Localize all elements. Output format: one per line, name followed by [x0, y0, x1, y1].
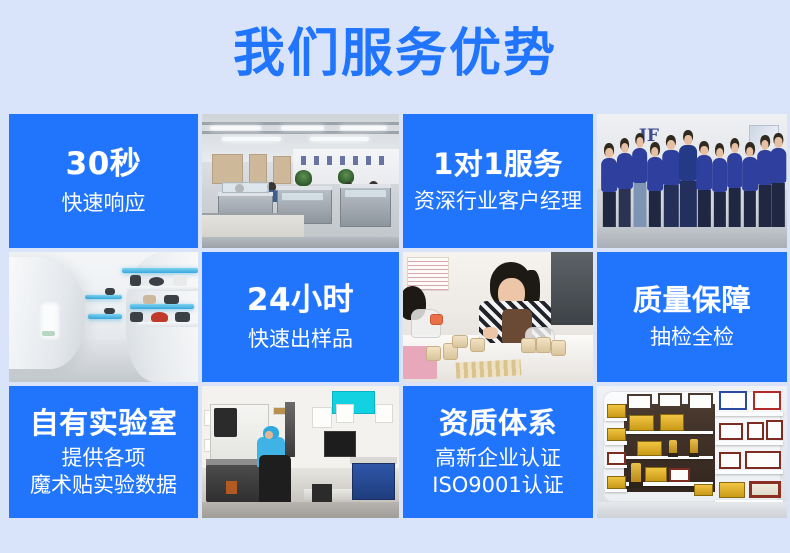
ceiling-beam [202, 122, 399, 125]
display-product [105, 288, 114, 295]
cubicle-glass [281, 192, 324, 201]
wall-calligraphy [301, 156, 392, 165]
certificate-frame [719, 452, 742, 469]
advantage-subline: 抽检全检 [650, 324, 734, 350]
office-door [273, 156, 291, 184]
wall-shelf [715, 441, 783, 444]
title-bar: 我们服务优势 [0, 0, 790, 108]
material-roll [470, 338, 485, 352]
award-plaque [645, 467, 668, 483]
display-floor [597, 502, 787, 518]
display-shelf [126, 286, 198, 291]
advantage-cell-11[interactable]: 资质体系 高新企业认证 ISO9001认证 [403, 386, 593, 518]
cubicle-glass [222, 182, 269, 193]
team-scene: JF [597, 114, 787, 248]
wall-shelf [605, 418, 628, 421]
advantage-cell-12-certificates-photo[interactable] [597, 386, 787, 518]
material-roll [521, 338, 536, 354]
team-member [770, 133, 787, 227]
display-product [130, 275, 141, 285]
award-plaque [660, 414, 685, 431]
lab-technician-face [265, 431, 273, 439]
wall-paper [375, 404, 393, 422]
advantage-subline-line: 快速出样品 [248, 326, 353, 352]
advantage-headline: 自有实验室 [30, 406, 178, 440]
wall-shelf [715, 412, 783, 415]
wall-paper [336, 404, 354, 422]
office-cubicle [277, 186, 332, 190]
advantage-cell-9[interactable]: 自有实验室 提供各项 魔术贴实验数据 [9, 386, 198, 518]
advantage-cell-7-workshop-photo[interactable] [403, 252, 593, 382]
workshop-scene [403, 252, 593, 382]
office-scene [202, 114, 399, 248]
award-plaque [637, 441, 662, 456]
display-shelf [85, 295, 123, 300]
advantage-cell-2-office-photo[interactable] [202, 114, 399, 248]
team-floor [597, 227, 787, 248]
advantages-grid: 30秒 快速响应 [9, 114, 783, 518]
trophy-base [629, 482, 642, 487]
advantage-subline-line: 魔术贴实验数据 [30, 472, 177, 498]
wall-paper [312, 407, 332, 428]
material-roll [551, 340, 566, 356]
office-floor [202, 237, 399, 248]
award-plaque [694, 484, 713, 496]
certificate-frame [607, 452, 626, 465]
award-plaque [749, 481, 781, 498]
advantage-headline: 1对1服务 [433, 147, 563, 181]
niche-product [42, 331, 55, 336]
award-plaque [629, 415, 654, 431]
service-advantages-banner: 我们服务优势 30秒 快速响应 [0, 0, 790, 553]
blue-cabinet [352, 463, 395, 500]
advantage-cell-5-showroom-photo[interactable] [9, 252, 198, 382]
certificate-frame [627, 394, 652, 410]
certificate-frame [745, 451, 781, 469]
advantage-cell-6[interactable]: 24小时 快速出样品 [202, 252, 399, 382]
advantage-headline: 30秒 [66, 146, 142, 183]
display-shelf [122, 268, 198, 273]
material-roll [426, 346, 441, 362]
trophy [690, 439, 698, 454]
advantage-subline: 快速出样品 [248, 326, 353, 352]
ceiling-light [222, 137, 281, 141]
certificate-frame [719, 423, 744, 440]
display-product [164, 295, 179, 304]
material-roll [452, 335, 467, 348]
trophy [631, 463, 641, 483]
advantage-subline: 资深行业客户经理 [414, 188, 582, 214]
certificate-frame [669, 468, 690, 483]
page-title: 我们服务优势 [233, 28, 557, 80]
display-shelf [130, 304, 194, 309]
ceiling-light [340, 126, 387, 130]
ceiling-light [281, 126, 324, 130]
showroom-scene [9, 252, 198, 382]
office-cubicle [340, 184, 391, 188]
worker-hand [483, 327, 498, 339]
trophy-base [689, 453, 699, 456]
advantage-headline: 24小时 [247, 282, 354, 319]
lab-floor [202, 502, 399, 518]
office-chair [259, 455, 291, 505]
advantage-subline: 快速响应 [62, 190, 146, 216]
display-product [104, 308, 115, 315]
award-plaque [607, 428, 626, 441]
display-product [130, 312, 143, 322]
test-tower [285, 402, 295, 457]
panel-shelf [626, 431, 713, 434]
wall-shelf [715, 470, 783, 473]
wall-shelf [605, 489, 628, 492]
material-box [430, 314, 443, 324]
advantage-subline-line: 快速响应 [62, 190, 146, 216]
award-plaque [607, 476, 626, 489]
advantage-cell-1[interactable]: 30秒 快速响应 [9, 114, 198, 248]
office-door [212, 154, 244, 183]
ceiling-beam [202, 131, 399, 134]
certificate-frame [658, 393, 683, 409]
machine-panel [226, 481, 238, 494]
display-product [151, 312, 168, 322]
lab-scene [202, 386, 399, 518]
advantage-subline-line: 资深行业客户经理 [414, 188, 582, 214]
trophy [669, 440, 677, 453]
advantage-subline-line: 抽检全检 [650, 324, 734, 350]
certificate-frame [766, 420, 783, 440]
workshop-shelving [551, 252, 593, 325]
cubicle-glass [344, 189, 387, 198]
advantage-subline-line: 提供各项 [30, 445, 177, 471]
ceiling-light [310, 137, 369, 141]
advantage-subline-line: ISO9001认证 [432, 472, 564, 498]
award-plaque [719, 482, 746, 498]
wall-shelf [605, 441, 628, 444]
advantage-cell-10-lab-photo[interactable] [202, 386, 399, 518]
display-product [149, 277, 164, 286]
wall-shelf [605, 465, 628, 468]
computer-monitor [324, 431, 356, 457]
advantage-cell-3[interactable]: 1对1服务 资深行业客户经理 [403, 114, 593, 248]
display-shelf [138, 322, 198, 327]
advantage-headline: 资质体系 [439, 406, 557, 440]
display-product [173, 275, 186, 285]
display-product [175, 312, 190, 322]
office-door [249, 154, 267, 183]
display-product [143, 295, 156, 304]
machine-column [214, 408, 238, 437]
certificate-frame [747, 422, 764, 440]
display-shelf [88, 314, 122, 319]
certificate-frame [688, 393, 713, 410]
certificates-scene [597, 386, 787, 518]
ceiling-light [210, 126, 261, 130]
advantage-subline: 高新企业认证 ISO9001认证 [432, 445, 564, 498]
certificate-frame [753, 391, 782, 409]
trophy-base [668, 453, 678, 456]
certificate-frame [719, 391, 748, 409]
advantage-cell-8[interactable]: 质量保障 抽检全检 [597, 252, 787, 382]
advantage-subline-line: 高新企业认证 [432, 445, 564, 471]
advantage-headline: 质量保障 [633, 283, 751, 317]
advantage-cell-4-team-photo[interactable]: JF [597, 114, 787, 248]
material-roll [536, 337, 551, 354]
advantage-subline: 提供各项 魔术贴实验数据 [30, 445, 177, 498]
award-plaque [607, 404, 626, 417]
office-plant [295, 170, 313, 186]
